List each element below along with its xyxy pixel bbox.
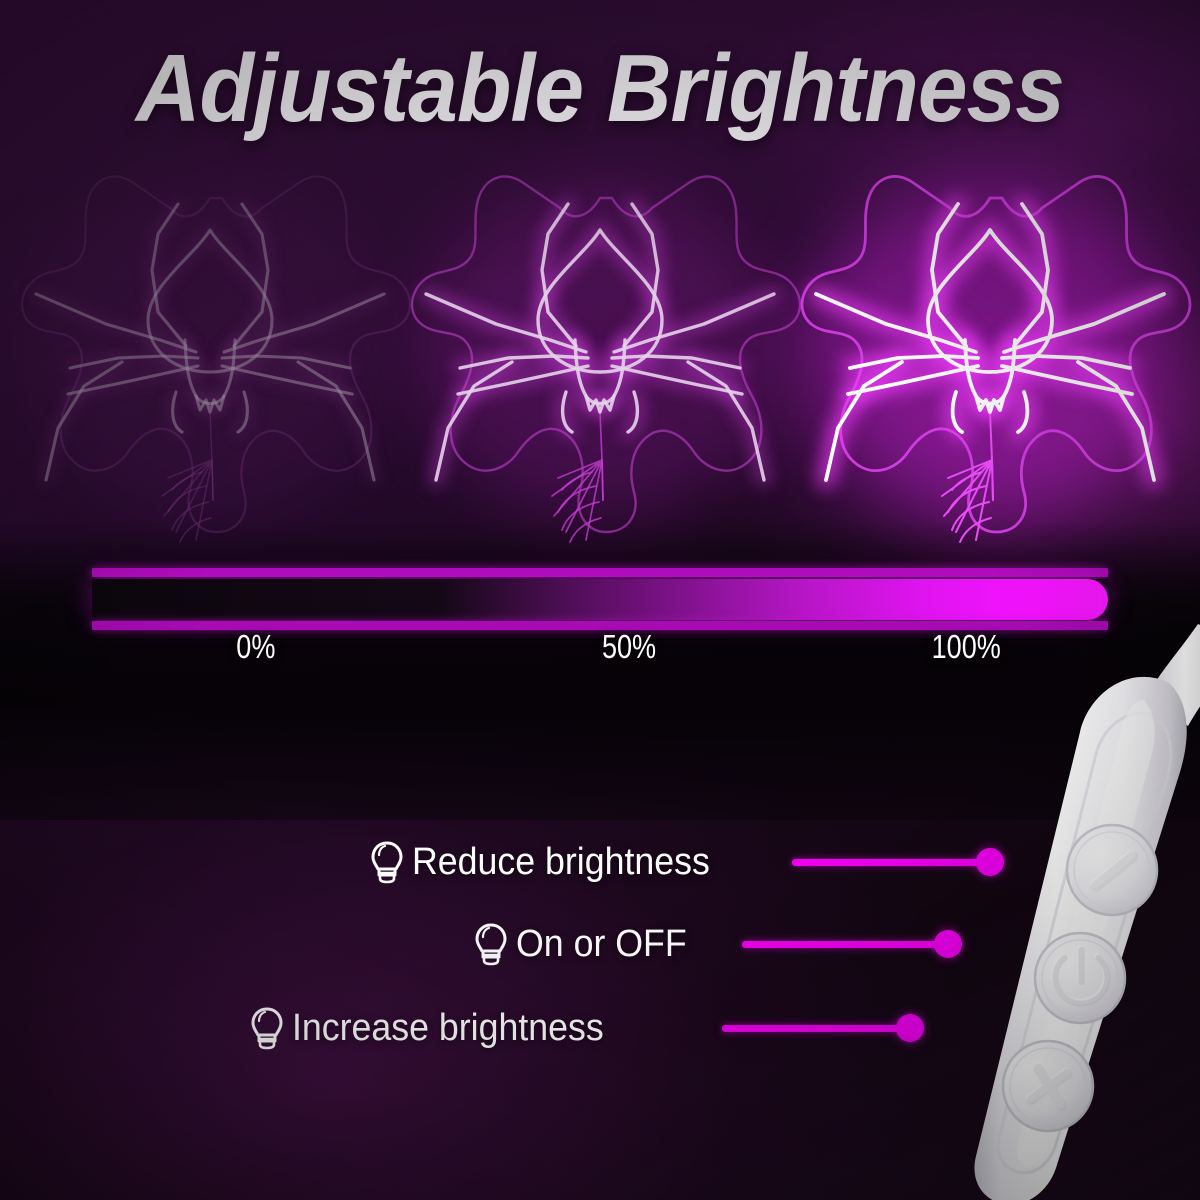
leader-line-increase [722,1025,912,1032]
leader-dot-increase [896,1014,924,1042]
leader-line-reduce [792,859,990,866]
callout-increase-brightness: Increase brightness [248,1006,624,1050]
lightbulb-icon [368,840,406,884]
callout-on-off: On or OFF [472,922,698,966]
product-infographic: Adjustable Brightness [0,0,1200,1200]
callout-group: Reduce brightness On or OFF Increase bri… [0,0,1200,1200]
callout-reduce-brightness: Reduce brightness [368,840,729,884]
callout-label: Increase brightness [292,1007,604,1050]
leader-line-onoff [742,941,950,948]
leader-dot-reduce [976,848,1004,876]
lightbulb-icon [472,922,510,966]
callout-label: Reduce brightness [412,841,710,884]
lightbulb-icon [248,1006,286,1050]
callout-label: On or OFF [516,923,687,966]
leader-dot-onoff [934,930,962,958]
